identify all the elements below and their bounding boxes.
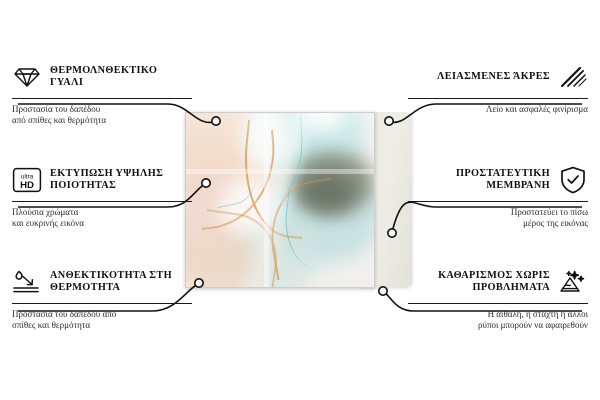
feature-description: Προστατεύει το πίσω μέρος της εικόνας bbox=[408, 207, 588, 229]
feature-header: ultra HD ΕΚΤΥΠΩΣΗ ΥΨΗΛΗΣ ΠΟΙΟΤΗΤΑΣ bbox=[12, 163, 192, 197]
infographic-stage: ΘΕΡΜΟΛΝΘΕΚΤΙΚΟ ΓΥΑΛΙ Προστασία του δαπέδ… bbox=[0, 0, 600, 400]
divider bbox=[408, 303, 588, 304]
feature-description: Προστασία του δαπέδου από σπίθες και θερ… bbox=[12, 309, 192, 331]
hd-label: HD bbox=[20, 180, 34, 191]
feature-desc-line-2: σπίθες και θερμότητα bbox=[12, 320, 192, 331]
feature-desc-line-2: ρύποι μπορούν να αφαιρεθούν bbox=[408, 320, 588, 331]
feature-header: ΚΑΘΑΡΙΣΜΟΣ ΧΩΡΙΣ ΠΡΟΒΛΗΜΑΤΑ bbox=[408, 265, 588, 299]
feature-header: ΘΕΡΜΟΛΝΘΕΚΤΙΚΟ ΓΥΑΛΙ bbox=[12, 60, 192, 94]
feature-desc-line-1: Λείο και ασφαλές φινίρισμα bbox=[408, 104, 588, 115]
feature-header: ΛΕΙΑΣΜΕΝΕΣ ΆΚΡΕΣ bbox=[408, 60, 588, 94]
feature-polished-edges: ΛΕΙΑΣΜΕΝΕΣ ΆΚΡΕΣ Λείο και ασφαλές φινίρι… bbox=[408, 60, 588, 115]
feature-title: ΛΕΙΑΣΜΕΝΕΣ ΆΚΡΕΣ bbox=[408, 71, 550, 83]
glass-splashback-front bbox=[185, 112, 375, 288]
polished-edges-icon bbox=[558, 62, 588, 92]
feature-easy-cleaning: ΚΑΘΑΡΙΣΜΟΣ ΧΩΡΙΣ ΠΡΟΒΛΗΜΑΤΑ Η αιθάλη, η … bbox=[408, 265, 588, 331]
divider bbox=[12, 303, 192, 304]
divider bbox=[12, 98, 192, 99]
feature-desc-line-2: από σπίθες και θερμότητα bbox=[12, 115, 192, 126]
feature-description: Λείο και ασφαλές φινίρισμα bbox=[408, 104, 588, 115]
connector-dot-right-3 bbox=[379, 287, 387, 295]
ultra-hd-icon: ultra HD bbox=[12, 165, 42, 195]
feature-desc-line-1: Η αιθάλη, η στάχτη ή άλλοι bbox=[408, 309, 588, 320]
divider bbox=[12, 201, 192, 202]
divider bbox=[408, 98, 588, 99]
feature-description: Προστασία του δαπέδου από σπίθες και θερ… bbox=[12, 104, 192, 126]
feature-protective-membrane: ΠΡΟΣΤΑΤΕΥΤΙΚΗ ΜΕΜΒΡΑΝΗ Προστατεύει το πί… bbox=[408, 163, 588, 229]
sparkle-clean-icon bbox=[558, 267, 588, 297]
feature-header: ΠΡΟΣΤΑΤΕΥΤΙΚΗ ΜΕΜΒΡΑΝΗ bbox=[408, 163, 588, 197]
feature-desc-line-1: Προστασία του δαπέδου από bbox=[12, 309, 192, 320]
feature-high-quality-print: ultra HD ΕΚΤΥΠΩΣΗ ΥΨΗΛΗΣ ΠΟΙΟΤΗΤΑΣ Πλούσ… bbox=[12, 163, 192, 229]
feature-header: ΑΝΘΕΚΤΙΚΟΤΗΤΑ ΣΤΗ ΘΕΡΜΟΤΗΤΑ bbox=[12, 265, 192, 299]
feature-desc-line-1: Πλούσια χρώματα bbox=[12, 207, 192, 218]
shield-check-icon bbox=[558, 165, 588, 195]
divider bbox=[408, 201, 588, 202]
feature-title: ΠΡΟΣΤΑΤΕΥΤΙΚΗ ΜΕΜΒΡΑΝΗ bbox=[408, 168, 550, 193]
feature-heat-durability: ΑΝΘΕΚΤΙΚΟΤΗΤΑ ΣΤΗ ΘΕΡΜΟΤΗΤΑ Προστασία το… bbox=[12, 265, 192, 331]
feature-description: Η αιθάλη, η στάχτη ή άλλοι ρύποι μπορούν… bbox=[408, 309, 588, 331]
feature-desc-line-1: Προστασία του δαπέδου bbox=[12, 104, 192, 115]
feature-desc-line-2: και ευκρινής εικόνα bbox=[12, 218, 192, 229]
product-image bbox=[185, 112, 413, 288]
feature-title: ΕΚΤΥΠΩΣΗ ΥΨΗΛΗΣ ΠΟΙΟΤΗΤΑΣ bbox=[50, 168, 192, 193]
feature-title: ΘΕΡΜΟΛΝΘΕΚΤΙΚΟ ΓΥΑΛΙ bbox=[50, 65, 192, 90]
feature-title: ΑΝΘΕΚΤΙΚΟΤΗΤΑ ΣΤΗ ΘΕΡΜΟΤΗΤΑ bbox=[50, 270, 192, 295]
diamond-icon bbox=[12, 62, 42, 92]
feature-description: Πλούσια χρώματα και ευκρινής εικόνα bbox=[12, 207, 192, 229]
feature-desc-line-2: μέρος της εικόνας bbox=[408, 218, 588, 229]
feature-title: ΚΑΘΑΡΙΣΜΟΣ ΧΩΡΙΣ ΠΡΟΒΛΗΜΑΤΑ bbox=[408, 270, 550, 295]
feature-desc-line-1: Προστατεύει το πίσω bbox=[408, 207, 588, 218]
heat-resistance-icon bbox=[12, 267, 42, 297]
marble-art bbox=[186, 113, 374, 287]
feature-heat-resistant-glass: ΘΕΡΜΟΛΝΘΕΚΤΙΚΟ ΓΥΑΛΙ Προστασία του δαπέδ… bbox=[12, 60, 192, 126]
